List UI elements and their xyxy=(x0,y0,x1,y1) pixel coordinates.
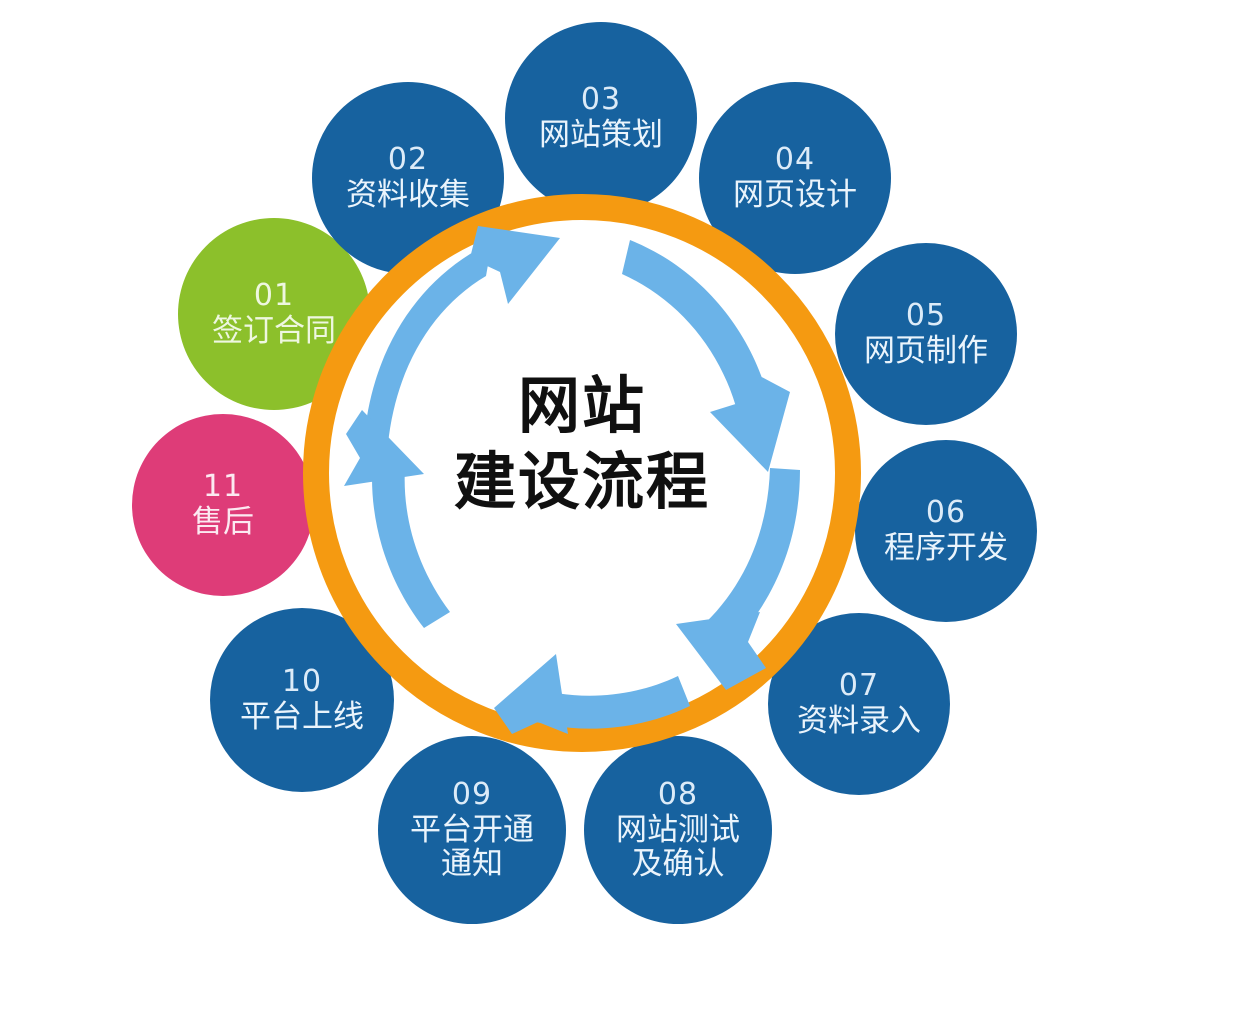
step-number: 08 xyxy=(658,778,698,812)
step-node-03[interactable]: 03网站策划 xyxy=(505,22,697,214)
step-number: 04 xyxy=(775,143,815,177)
step-label: 平台上线 xyxy=(240,700,364,735)
step-number: 03 xyxy=(581,83,621,117)
step-label: 签订合同 xyxy=(212,314,336,349)
step-node-04[interactable]: 04网页设计 xyxy=(699,82,891,274)
step-node-11[interactable]: 11售后 xyxy=(132,414,314,596)
step-number: 07 xyxy=(839,669,879,703)
step-label: 网页设计 xyxy=(733,178,857,213)
step-number: 05 xyxy=(906,299,946,333)
step-node-10[interactable]: 10平台上线 xyxy=(210,608,394,792)
step-node-06[interactable]: 06程序开发 xyxy=(855,440,1037,622)
step-number: 01 xyxy=(254,279,294,313)
step-number: 06 xyxy=(926,496,966,530)
step-label: 网站测试 及确认 xyxy=(616,813,740,882)
step-number: 09 xyxy=(452,778,492,812)
step-node-08[interactable]: 08网站测试 及确认 xyxy=(584,736,772,924)
step-number: 02 xyxy=(388,143,428,177)
step-number: 11 xyxy=(203,470,243,504)
step-label: 网站策划 xyxy=(539,118,663,153)
center-title: 网站 建设流程 xyxy=(352,368,812,519)
step-node-09[interactable]: 09平台开通 通知 xyxy=(378,736,566,924)
step-number: 10 xyxy=(282,665,322,699)
arrow-bottom-left-icon xyxy=(494,654,690,734)
step-label: 网页制作 xyxy=(864,334,988,369)
step-node-05[interactable]: 05网页制作 xyxy=(835,243,1017,425)
step-node-07[interactable]: 07资料录入 xyxy=(768,613,950,795)
step-node-02[interactable]: 02资料收集 xyxy=(312,82,504,274)
step-label: 资料录入 xyxy=(797,704,921,739)
step-label: 平台开通 通知 xyxy=(410,813,534,882)
diagram-canvas: 01签订合同02资料收集03网站策划04网页设计05网页制作06程序开发07资料… xyxy=(0,0,1241,1009)
step-label: 售后 xyxy=(192,505,254,540)
step-label: 资料收集 xyxy=(346,178,470,213)
step-label: 程序开发 xyxy=(884,531,1008,566)
